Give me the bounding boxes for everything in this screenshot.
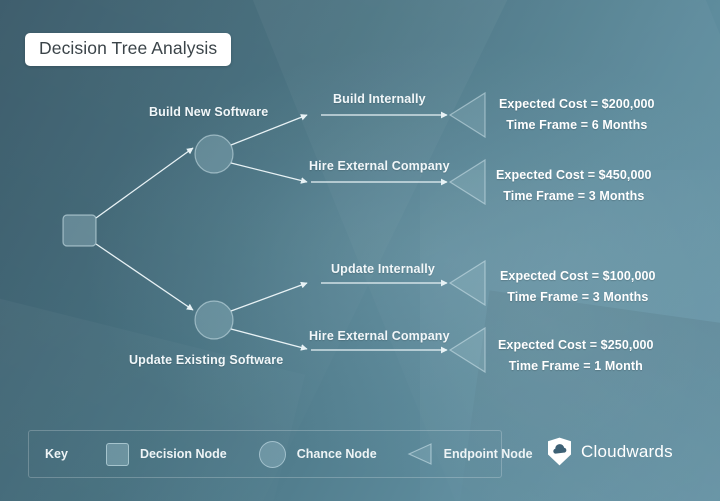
legend: Key Decision Node Chance Node Endpoint N… — [28, 430, 502, 478]
chance-node-build[interactable] — [195, 135, 233, 173]
endpoint-node-2[interactable] — [450, 160, 485, 204]
chance-node-update[interactable] — [195, 301, 233, 339]
edge-root-to-build — [96, 148, 193, 218]
edge-update-to-update-internally — [231, 283, 307, 311]
endpoint-time-2: Time Frame = 3 Months — [496, 189, 652, 203]
endpoint-cost-2: Expected Cost = $450,000 — [496, 168, 652, 182]
edge-build-to-build-internally — [231, 115, 307, 145]
infographic-canvas: Decision Tree Analysis — [0, 0, 720, 501]
legend-item-decision-node: Decision Node — [106, 443, 227, 466]
endpoint-cost-1: Expected Cost = $200,000 — [499, 97, 655, 111]
tree-graphics-layer — [0, 0, 720, 501]
edge-build-to-hire-external — [231, 163, 307, 182]
legend-item-endpoint-node: Endpoint Node — [407, 441, 533, 467]
endpoint-outcome-3: Expected Cost = $100,000 Time Frame = 3 … — [500, 269, 656, 304]
endpoint-node-3[interactable] — [450, 261, 485, 305]
option-label-build-internally: Build Internally — [333, 92, 426, 106]
endpoint-node-swatch — [407, 441, 433, 467]
option-label-hire-external-company-1: Hire External Company — [309, 159, 450, 173]
legend-label-chance-node: Chance Node — [297, 447, 377, 461]
brand-name: Cloudwards — [581, 442, 673, 462]
endpoint-time-1: Time Frame = 6 Months — [499, 118, 655, 132]
legend-item-chance-node: Chance Node — [259, 441, 377, 468]
decision-node-swatch — [106, 443, 129, 466]
branch-label-update-existing-software: Update Existing Software — [129, 353, 283, 367]
chance-node-swatch — [259, 441, 286, 468]
endpoint-outcome-4: Expected Cost = $250,000 Time Frame = 1 … — [498, 338, 654, 373]
edge-root-to-update — [96, 244, 193, 310]
endpoint-outcome-1: Expected Cost = $200,000 Time Frame = 6 … — [499, 97, 655, 132]
endpoint-time-4: Time Frame = 1 Month — [498, 359, 654, 373]
endpoint-cost-4: Expected Cost = $250,000 — [498, 338, 654, 352]
endpoint-time-3: Time Frame = 3 Months — [500, 290, 656, 304]
legend-key-label: Key — [45, 447, 68, 461]
branch-label-build-new-software: Build New Software — [149, 105, 268, 119]
endpoint-cost-3: Expected Cost = $100,000 — [500, 269, 656, 283]
legend-label-decision-node: Decision Node — [140, 447, 227, 461]
brand-logo[interactable]: Cloudwards — [547, 437, 673, 466]
endpoint-node-1[interactable] — [450, 93, 485, 137]
decision-node-root[interactable] — [63, 215, 96, 246]
option-label-update-internally: Update Internally — [331, 262, 435, 276]
endpoint-outcome-2: Expected Cost = $450,000 Time Frame = 3 … — [496, 168, 652, 203]
option-label-hire-external-company-2: Hire External Company — [309, 329, 450, 343]
shield-cloud-icon — [547, 437, 572, 466]
legend-label-endpoint-node: Endpoint Node — [444, 447, 533, 461]
endpoint-node-4[interactable] — [450, 328, 485, 372]
edge-update-to-hire-external — [231, 329, 307, 349]
